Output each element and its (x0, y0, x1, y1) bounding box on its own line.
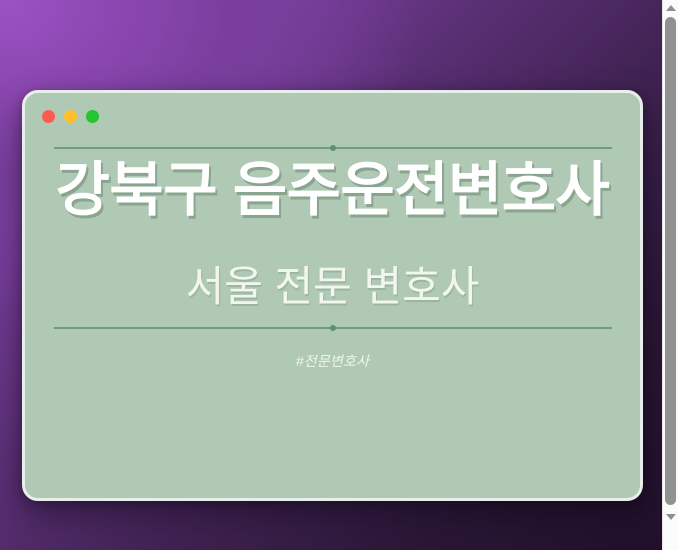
vertical-scrollbar[interactable] (662, 0, 678, 550)
page-root: 강북구 음주운전변호사 서울 전문 변호사 #전문변호사 (0, 0, 678, 550)
scrollbar-thumb[interactable] (665, 17, 676, 505)
scroll-up-button[interactable] (663, 0, 678, 15)
chevron-down-icon (666, 514, 676, 520)
hashtag-label: #전문변호사 (296, 351, 369, 371)
page-title: 강북구 음주운전변호사 (50, 159, 616, 222)
card-content: 강북구 음주운전변호사 서울 전문 변호사 #전문변호사 (25, 93, 640, 498)
divider-node-icon (330, 325, 336, 331)
chevron-up-icon (666, 5, 676, 11)
scroll-down-button[interactable] (663, 509, 678, 524)
page-subtitle: 서울 전문 변호사 (50, 264, 616, 310)
divider-top (54, 147, 612, 149)
divider-bottom (54, 327, 612, 329)
promo-card: 강북구 음주운전변호사 서울 전문 변호사 #전문변호사 (22, 90, 643, 501)
divider-node-icon (330, 145, 336, 151)
